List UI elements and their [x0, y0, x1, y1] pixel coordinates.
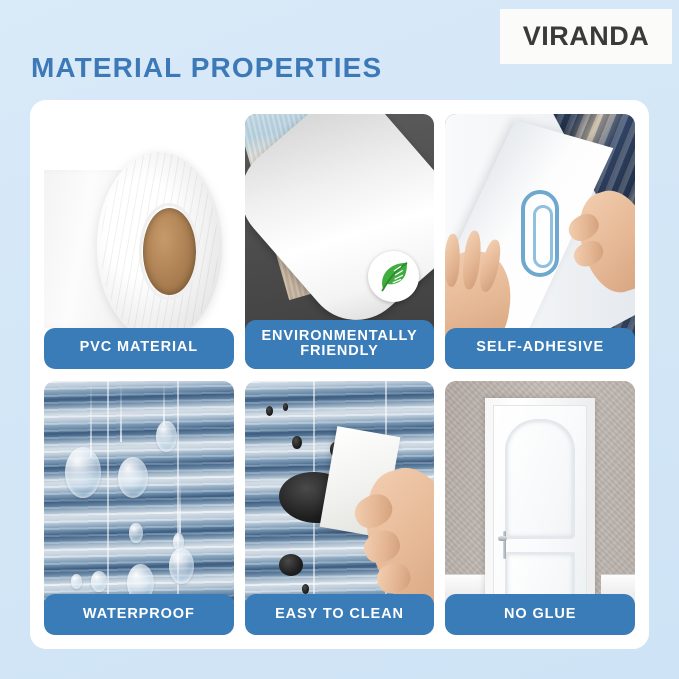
droplet-trail: [179, 477, 181, 533]
door-panel-top: [505, 419, 575, 540]
feature-label-waterproof: WATERPROOF: [44, 594, 234, 635]
black-stain: [266, 406, 274, 416]
droplet-trail: [120, 381, 122, 442]
feature-label-environmentally-friendly: ENVIRONMENTALLY FRIENDLY: [245, 320, 435, 369]
feature-card: PVC MATERIAL: [30, 100, 649, 649]
leaf-icon: [375, 258, 413, 296]
water-droplet: [118, 457, 148, 498]
finger: [445, 234, 460, 287]
feature-tile-environmentally-friendly[interactable]: ENVIRONMENTALLY FRIENDLY: [245, 114, 435, 369]
handle-lever: [498, 536, 507, 541]
rolled-wallpaper: [245, 114, 435, 340]
feature-tile-easy-to-clean[interactable]: EASY TO CLEAN: [245, 381, 435, 636]
droplet-trail: [90, 381, 92, 457]
infographic-page: VIRANDA MATERIAL PROPERTIES PVC MATERIAL: [0, 0, 679, 679]
brand-name: VIRANDA: [523, 21, 650, 52]
feature-tile-waterproof[interactable]: WATERPROOF: [44, 381, 234, 636]
water-droplet: [129, 523, 142, 543]
feature-label-pvc-material: PVC MATERIAL: [44, 328, 234, 369]
feature-tile-pvc-material[interactable]: PVC MATERIAL: [44, 114, 234, 369]
water-droplet: [169, 548, 194, 584]
page-title: MATERIAL PROPERTIES: [31, 52, 382, 84]
door-leaf: [493, 405, 588, 622]
feature-tile-self-adhesive[interactable]: SELF-ADHESIVE: [445, 114, 635, 369]
feature-tile-no-glue[interactable]: NO GLUE: [445, 381, 635, 636]
droplet-trail: [163, 381, 165, 427]
feature-label-no-glue: NO GLUE: [445, 594, 635, 635]
feature-grid: PVC MATERIAL: [44, 114, 635, 635]
water-droplet: [71, 574, 82, 589]
roll-inner-edge: [333, 114, 375, 122]
brand-logo: VIRANDA: [500, 9, 672, 64]
feature-label-self-adhesive: SELF-ADHESIVE: [445, 328, 635, 369]
water-droplet: [91, 571, 106, 591]
feature-label-easy-to-clean: EASY TO CLEAN: [245, 594, 435, 635]
paperclip-logo-icon: [521, 190, 559, 277]
eco-leaf-badge: [368, 251, 419, 302]
black-stain: [292, 436, 301, 449]
roll-cardboard-core: [143, 208, 196, 295]
water-droplet: [156, 421, 177, 452]
door-frame: [485, 398, 595, 622]
door-handle: [498, 531, 510, 559]
water-droplet: [65, 447, 101, 498]
